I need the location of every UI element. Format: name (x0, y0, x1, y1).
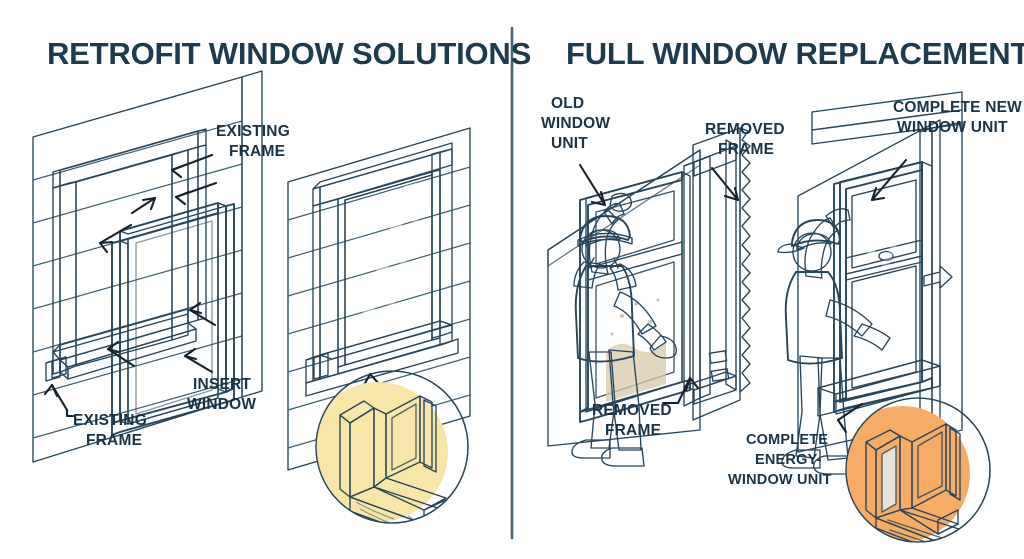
label-line: FRAME (229, 143, 285, 160)
label-existing-frame-top: EXISTING FRAME (216, 123, 290, 160)
label-line: UNIT (551, 135, 588, 152)
label-complete-new-window-unit: COMPLETE NEW WINDOW UNIT (893, 99, 1022, 136)
label-removed-frame-bottom: REMOVED FRAME (592, 402, 672, 439)
label-line: WINDOW UNIT (728, 472, 832, 488)
label-old-window-unit: OLD WINDOW UNIT (541, 95, 610, 152)
label-line: FRAME (86, 432, 142, 449)
label-line: FRAME (718, 141, 774, 158)
label-line: FRAME (605, 422, 661, 439)
label-line: REMOVED (705, 121, 785, 138)
infographic-canvas: RETROFIT WINDOW SOLUTIONS FULL WINDOW RE… (0, 0, 1024, 559)
label-line: WINDOW (541, 115, 610, 132)
label-line: WINDOW UNIT (897, 119, 1008, 136)
label-complete-energy-window-unit: COMPLETE ENERGY- WINDOW UNIT (728, 432, 832, 488)
label-line: COMPLETE NEW (893, 99, 1022, 116)
label-line: REMOVED (592, 402, 672, 419)
text-layer: RETROFIT WINDOW SOLUTIONS FULL WINDOW RE… (0, 0, 1024, 559)
label-line: ENERGY- (755, 452, 822, 468)
page-title-right: FULL WINDOW REPLACEMENT (566, 36, 1024, 71)
page-title-left: RETROFIT WINDOW SOLUTIONS (47, 36, 531, 71)
label-line: EXISTING (73, 412, 147, 429)
label-line: COMPLETE (746, 432, 828, 448)
label-line: INSERT (193, 376, 251, 393)
label-line: OLD (551, 95, 584, 112)
label-removed-frame-top: REMOVED FRAME (705, 121, 785, 158)
label-line: WINDOW (187, 396, 256, 413)
label-line: EXISTING (216, 123, 290, 140)
label-existing-frame-bottom: EXISTING FRAME (73, 412, 147, 449)
label-insert-window: INSERT WINDOW (187, 376, 256, 413)
